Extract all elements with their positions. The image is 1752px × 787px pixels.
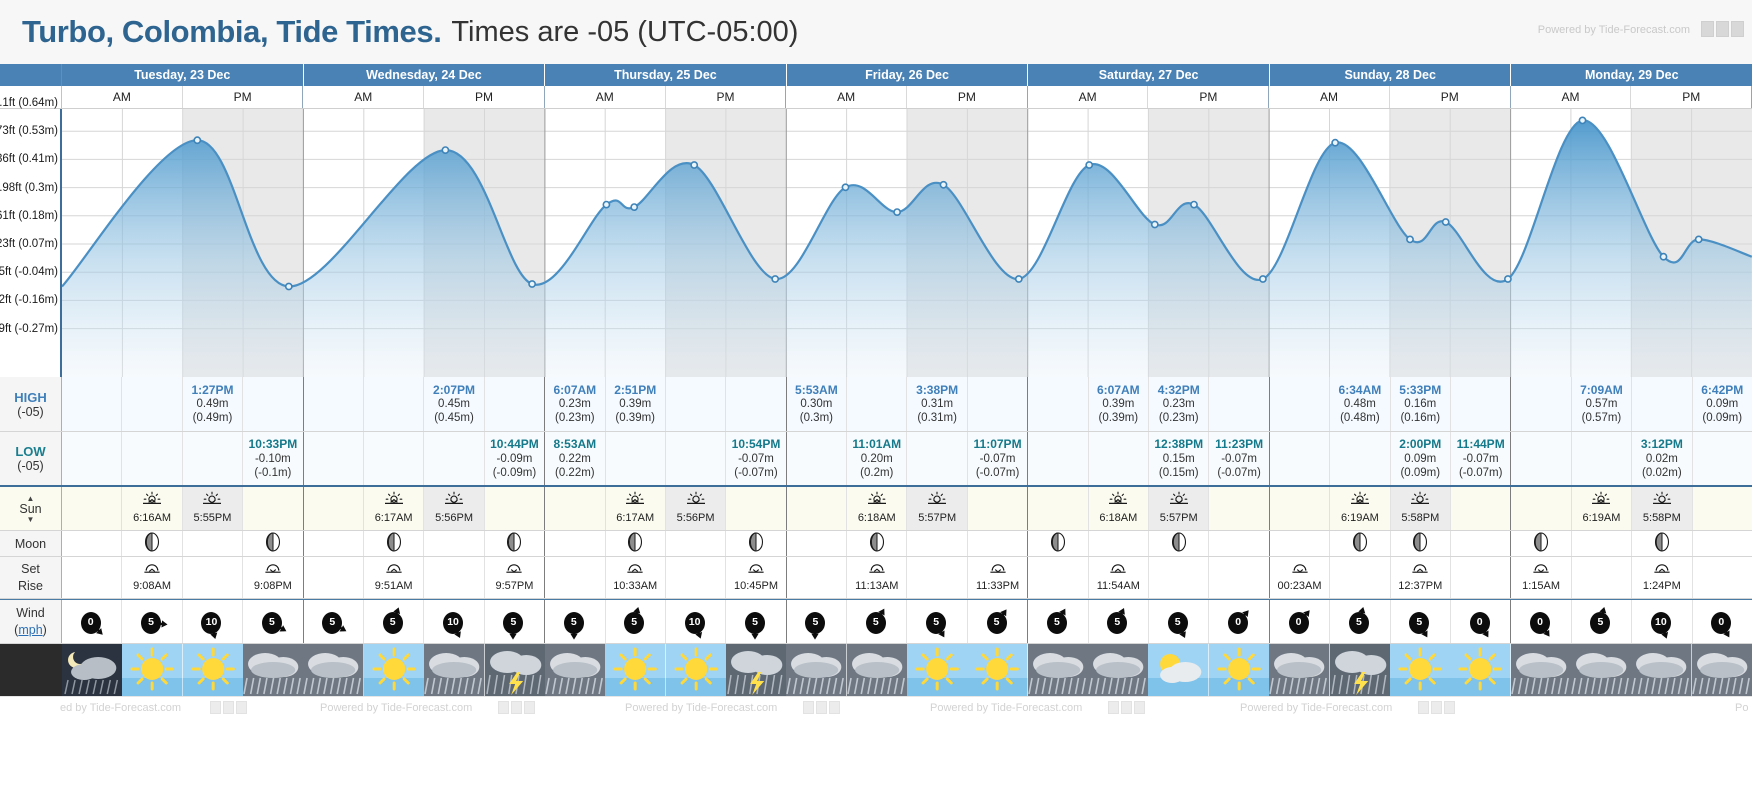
tide-height-alt: (0.39m) bbox=[1099, 411, 1139, 425]
sun-cell-4 bbox=[304, 487, 364, 530]
high-tide-cell-21: 6:34AM0.48m(0.48m) bbox=[1330, 377, 1390, 431]
ampm-header-row: AMPMAMPMAMPMAMPMAMPMAMPMAMPM bbox=[0, 86, 1752, 109]
sunset-icon bbox=[685, 491, 707, 507]
wind-badge: 5 bbox=[864, 609, 890, 635]
low-tide-row: LOW (-05) 10:33PM-0.10m(-0.1m)10:44PM-0.… bbox=[0, 432, 1752, 487]
tide-time: 11:23PM bbox=[1215, 437, 1263, 452]
moon-phase-icon bbox=[1410, 532, 1430, 556]
sun-time: 6:17AM bbox=[375, 512, 413, 525]
weather-icon-thunder bbox=[726, 644, 786, 696]
moon-phase-icon bbox=[1350, 532, 1370, 552]
weather-cell-23 bbox=[1450, 644, 1510, 696]
sunrise-icon bbox=[624, 491, 646, 507]
moon-cell-26 bbox=[1632, 531, 1692, 556]
weather-icon-rain bbox=[1511, 644, 1571, 696]
moon-event-cell-8 bbox=[545, 557, 605, 598]
moon-setrise-cells: 9:08AM9:08PM9:51AM9:57PM10:33AM10:45PM11… bbox=[62, 557, 1752, 598]
sun-cell-10: 5:56PM bbox=[666, 487, 726, 530]
high-tide-cell-14: 3:38PM0.31m(0.31m) bbox=[907, 377, 967, 431]
high-tide-cell-20 bbox=[1270, 377, 1330, 431]
sun-cell-7 bbox=[485, 487, 545, 530]
weather-cell-7 bbox=[485, 644, 545, 696]
tide-height-alt: (-0.07m) bbox=[1459, 466, 1502, 480]
y-axis-label-0: 2.1ft (0.64m) bbox=[0, 97, 58, 109]
wind-cell-0: 0 bbox=[62, 600, 122, 643]
sunset-icon bbox=[1168, 491, 1190, 511]
sun-cell-20 bbox=[1270, 487, 1330, 530]
tide-height-alt: (0.57m) bbox=[1582, 411, 1622, 425]
weather-cell-13 bbox=[847, 644, 907, 696]
weather-cell-5 bbox=[364, 644, 424, 696]
sunset-icon bbox=[1409, 491, 1431, 511]
page-header: Turbo, Colombia, Tide Times. Times are -… bbox=[0, 0, 1752, 64]
wind-badge: 0 bbox=[79, 609, 105, 635]
wind-badge: 5 bbox=[501, 609, 527, 635]
low-tide-cell-2 bbox=[183, 432, 243, 485]
wind-badge: 10 bbox=[1649, 609, 1675, 635]
weather-cell-27 bbox=[1692, 644, 1752, 696]
tide-time: 3:38PM bbox=[916, 383, 958, 398]
wind-badge: 5 bbox=[139, 609, 165, 635]
tide-height-alt: (0.3m) bbox=[800, 411, 833, 425]
sunset-icon bbox=[201, 491, 223, 507]
flag-icon[interactable] bbox=[1431, 701, 1442, 714]
sun-time: 5:58PM bbox=[1401, 512, 1439, 525]
sun-cell-16 bbox=[1028, 487, 1088, 530]
low-tide-label: LOW (-05) bbox=[0, 432, 62, 485]
sunrise-icon bbox=[1349, 491, 1371, 507]
flag-icon[interactable] bbox=[1418, 701, 1429, 714]
sun-cell-12 bbox=[787, 487, 847, 530]
moon-label-text: Moon bbox=[15, 537, 46, 551]
sun-cells: 6:16AM5:55PM6:17AM5:56PM6:17AM5:56PM6:18… bbox=[62, 487, 1752, 530]
wind-badge: 5 bbox=[1407, 609, 1433, 635]
high-tide-cell-19 bbox=[1209, 377, 1269, 431]
moon-cell-16 bbox=[1028, 531, 1088, 556]
sun-time: 6:17AM bbox=[616, 512, 654, 525]
moonrise-icon bbox=[1410, 562, 1430, 576]
page-subtitle: Times are -05 (UTC-05:00) bbox=[451, 16, 798, 49]
high-tide-cell-2: 1:27PM0.49m(0.49m) bbox=[183, 377, 243, 431]
moonrise-icon bbox=[1410, 562, 1430, 580]
wind-cell-27: 0 bbox=[1693, 600, 1752, 643]
sunset-icon bbox=[685, 491, 707, 511]
moonset-icon bbox=[988, 562, 1008, 580]
sun-cell-5: 6:17AM bbox=[364, 487, 424, 530]
flag-icon[interactable] bbox=[1108, 701, 1119, 714]
sunrise-icon bbox=[1590, 491, 1612, 507]
tide-time: 5:33PM bbox=[1399, 383, 1441, 398]
footer-flags-4[interactable] bbox=[1418, 701, 1455, 714]
sun-cell-24 bbox=[1511, 487, 1571, 530]
moon-cell-17 bbox=[1089, 531, 1149, 556]
wind-cell-4: 5 bbox=[304, 600, 364, 643]
weather-icon-sunny bbox=[666, 644, 726, 696]
flag-icon[interactable] bbox=[816, 701, 827, 714]
sun-time: 5:56PM bbox=[435, 512, 473, 525]
sun-label: ▲ Sun ▼ bbox=[0, 487, 62, 530]
wind-speed-badge: 10 bbox=[443, 612, 463, 634]
wind-speed-badge: 5 bbox=[805, 612, 825, 634]
moon-event-time: 11:13AM bbox=[855, 580, 898, 593]
sunrise-icon bbox=[383, 491, 405, 511]
ampm-header-am-6: AM bbox=[1511, 86, 1632, 108]
tide-curve-svg bbox=[62, 109, 1752, 377]
moonrise-icon bbox=[625, 562, 645, 576]
low-tide-cell-4 bbox=[304, 432, 364, 485]
tide-height: 0.23m bbox=[1163, 397, 1195, 411]
low-tide-cell-22: 2:00PM0.09m(0.09m) bbox=[1391, 432, 1451, 485]
high-tide-cells: 1:27PM0.49m(0.49m)2:07PM0.45m(0.45m)6:07… bbox=[62, 377, 1752, 431]
wind-badge: 10 bbox=[441, 609, 467, 635]
flag-icon[interactable] bbox=[1701, 21, 1714, 37]
moon-cell-24 bbox=[1511, 531, 1571, 556]
moonrise-icon bbox=[867, 562, 887, 580]
high-tide-cell-24 bbox=[1511, 377, 1571, 431]
sun-cell-15 bbox=[968, 487, 1028, 530]
ampm-header-am-3: AM bbox=[786, 86, 907, 108]
wind-speed-badge: 5 bbox=[987, 612, 1007, 634]
wind-badge: 5 bbox=[1045, 609, 1071, 635]
moonset-icon bbox=[746, 562, 766, 576]
weather-icon-rain bbox=[786, 644, 846, 696]
weather-cell-11 bbox=[726, 644, 786, 696]
weather-cell-9 bbox=[605, 644, 665, 696]
tide-time: 3:12PM bbox=[1641, 437, 1683, 452]
footer-flags-0[interactable] bbox=[210, 701, 247, 714]
tide-height-alt: (0.48m) bbox=[1340, 411, 1380, 425]
y-axis-label-1: 1.73ft (0.53m) bbox=[0, 125, 58, 137]
sun-time: 5:57PM bbox=[918, 512, 956, 525]
high-tide-cell-22: 5:33PM0.16m(0.16m) bbox=[1391, 377, 1451, 431]
weather-icon-rain bbox=[1028, 644, 1088, 696]
tide-time: 6:07AM bbox=[1097, 383, 1140, 398]
sun-time: 6:16AM bbox=[133, 512, 171, 525]
high-tide-cell-7 bbox=[485, 377, 545, 431]
moonrise-icon bbox=[1652, 562, 1672, 580]
tide-height: 0.02m bbox=[1646, 452, 1678, 466]
tide-height-alt: (0.23m) bbox=[1159, 411, 1199, 425]
moon-event-cell-2 bbox=[183, 557, 243, 598]
high-tide-cell-26 bbox=[1632, 377, 1692, 431]
moon-event-time: 12:37PM bbox=[1398, 580, 1442, 593]
tide-height: 0.48m bbox=[1344, 397, 1376, 411]
low-tide-cell-5 bbox=[364, 432, 424, 485]
ampm-header-am-4: AM bbox=[1028, 86, 1149, 108]
flag-icon[interactable] bbox=[1716, 21, 1729, 37]
moon-event-cell-11: 10:45PM bbox=[726, 557, 786, 598]
wind-speed-badge: 10 bbox=[685, 612, 705, 634]
moon-event-time: 10:45PM bbox=[734, 580, 778, 593]
low-tide-cell-9 bbox=[606, 432, 666, 485]
moon-cell-11 bbox=[726, 531, 786, 556]
weather-icon-partly-cloudy bbox=[1148, 644, 1208, 696]
moon-event-cell-16 bbox=[1028, 557, 1088, 598]
day-header-3: Friday, 26 Dec bbox=[787, 64, 1029, 86]
moon-event-cell-22: 12:37PM bbox=[1391, 557, 1451, 598]
sun-cell-11 bbox=[726, 487, 786, 530]
flag-icon[interactable] bbox=[803, 701, 814, 714]
tide-height-alt: (-0.1m) bbox=[254, 466, 291, 480]
tide-height: 0.16m bbox=[1404, 397, 1436, 411]
flag-icon[interactable] bbox=[1121, 701, 1132, 714]
moonset-icon bbox=[1531, 562, 1551, 580]
sun-time: 5:56PM bbox=[677, 512, 715, 525]
low-tide-cell-14 bbox=[907, 432, 967, 485]
sun-cell-18: 5:57PM bbox=[1149, 487, 1209, 530]
moon-phase-icon bbox=[142, 532, 162, 556]
flag-icon[interactable] bbox=[236, 701, 247, 714]
footer-powered-by-0: ed by Tide-Forecast.com bbox=[60, 702, 181, 714]
wind-badge: 5 bbox=[803, 609, 829, 635]
wind-speed-badge: 0 bbox=[1470, 612, 1490, 634]
moon-cell-5 bbox=[364, 531, 424, 556]
moon-phase-icon bbox=[625, 532, 645, 552]
sun-label-text: Sun bbox=[19, 502, 41, 516]
wind-cell-18: 5 bbox=[1149, 600, 1209, 643]
footer-flags-1[interactable] bbox=[498, 701, 535, 714]
wind-cell-13: 5 bbox=[847, 600, 907, 643]
sun-cell-2: 5:55PM bbox=[183, 487, 243, 530]
moon-label: Moon bbox=[0, 531, 62, 556]
flag-icon[interactable] bbox=[210, 701, 221, 714]
day-header-spacer bbox=[0, 64, 62, 86]
low-tide-cell-23: 11:44PM-0.07m(-0.07m) bbox=[1451, 432, 1511, 485]
flag-icon[interactable] bbox=[511, 701, 522, 714]
wind-badge: 0 bbox=[1709, 609, 1735, 635]
weather-cell-18 bbox=[1148, 644, 1208, 696]
tide-height: -0.07m bbox=[738, 452, 774, 466]
moon-event-time: 10:33AM bbox=[613, 580, 657, 593]
wind-speed-badge: 5 bbox=[503, 612, 523, 634]
footer-flags-2[interactable] bbox=[803, 701, 840, 714]
moon-cell-4 bbox=[304, 531, 364, 556]
tide-time: 10:33PM bbox=[249, 437, 298, 452]
wind-badge: 0 bbox=[1528, 609, 1554, 635]
weather-cell-2 bbox=[183, 644, 243, 696]
footer-powered-by-5: Po bbox=[1735, 702, 1748, 714]
wind-speed-badge: 5 bbox=[141, 612, 161, 634]
day-header-0: Tuesday, 23 Dec bbox=[62, 64, 304, 86]
flag-icon[interactable] bbox=[1731, 21, 1744, 37]
wind-speed-badge: 5 bbox=[1168, 612, 1188, 634]
low-tide-cell-8: 8:53AM0.22m(0.22m) bbox=[545, 432, 605, 485]
low-tide-cell-15: 11:07PM-0.07m(-0.07m) bbox=[968, 432, 1028, 485]
wind-badge: 5 bbox=[924, 609, 950, 635]
tide-height-alt: (0.15m) bbox=[1159, 466, 1199, 480]
moon-cell-8 bbox=[545, 531, 605, 556]
wind-speed-badge: 5 bbox=[564, 612, 584, 634]
sun-time: 6:18AM bbox=[858, 512, 896, 525]
tide-height: 0.45m bbox=[438, 397, 470, 411]
weather-row-spacer bbox=[0, 644, 62, 696]
wind-badge: 5 bbox=[1166, 609, 1192, 635]
tide-height-alt: (0.09m) bbox=[1400, 466, 1440, 480]
sunrise-icon bbox=[1107, 491, 1129, 511]
sun-cell-14: 5:57PM bbox=[907, 487, 967, 530]
wind-badge: 0 bbox=[1468, 609, 1494, 635]
wind-cell-10: 10 bbox=[666, 600, 726, 643]
tide-plot-area bbox=[62, 109, 1752, 377]
moon-event-cell-20: 00:23AM bbox=[1270, 557, 1330, 598]
wind-speed-badge: 5 bbox=[866, 612, 886, 634]
footer-flags-3[interactable] bbox=[1108, 701, 1145, 714]
sunset-icon bbox=[1168, 491, 1190, 507]
tide-height: 0.15m bbox=[1163, 452, 1195, 466]
high-tide-cell-9: 2:51PM0.39m(0.39m) bbox=[606, 377, 666, 431]
wind-badge: 5 bbox=[562, 609, 588, 635]
moon-event-time: 1:24PM bbox=[1643, 580, 1681, 593]
wind-cell-17: 5 bbox=[1089, 600, 1149, 643]
moonset-icon bbox=[263, 562, 283, 576]
moon-phase-cells bbox=[62, 531, 1752, 556]
tide-time: 11:44PM bbox=[1457, 437, 1505, 452]
high-tide-cell-11 bbox=[726, 377, 786, 431]
high-tide-cell-16 bbox=[1028, 377, 1088, 431]
flag-icon[interactable] bbox=[223, 701, 234, 714]
wind-cell-2: 10 bbox=[183, 600, 243, 643]
sun-cell-3 bbox=[243, 487, 303, 530]
tide-height-alt: (0.09m) bbox=[1702, 411, 1742, 425]
wind-speed-badge: 0 bbox=[1228, 612, 1248, 634]
tide-height-alt: (-0.07m) bbox=[1217, 466, 1260, 480]
weather-icon-thunder bbox=[1330, 644, 1390, 696]
moon-cell-23 bbox=[1451, 531, 1511, 556]
moon-phase-icon bbox=[867, 532, 887, 556]
moon-cell-3 bbox=[243, 531, 303, 556]
high-tide-cell-12: 5:53AM0.30m(0.3m) bbox=[787, 377, 847, 431]
moon-event-cell-23 bbox=[1451, 557, 1511, 598]
ampm-header-pm-4: PM bbox=[1148, 86, 1269, 108]
wind-cell-7: 5 bbox=[485, 600, 545, 643]
moonset-icon bbox=[263, 562, 283, 580]
sunrise-icon bbox=[383, 491, 405, 507]
tide-height-alt: (-0.07m) bbox=[734, 466, 777, 480]
y-axis-label-7: -0.52ft (-0.16m) bbox=[0, 294, 58, 306]
tide-time: 12:38PM bbox=[1154, 437, 1203, 452]
y-axis-label-6: -0.15ft (-0.04m) bbox=[0, 266, 58, 278]
high-tide-cell-5 bbox=[364, 377, 424, 431]
tide-height: -0.07m bbox=[980, 452, 1016, 466]
y-axis-label-3: 0.98ft (0.3m) bbox=[0, 182, 58, 194]
weather-cell-16 bbox=[1028, 644, 1088, 696]
weather-cell-15 bbox=[967, 644, 1027, 696]
sunset-icon bbox=[926, 491, 948, 507]
sun-time: 6:19AM bbox=[1341, 512, 1379, 525]
moon-event-cell-15: 11:33PM bbox=[968, 557, 1028, 598]
wind-badge: 5 bbox=[622, 609, 648, 635]
tide-time: 4:32PM bbox=[1158, 383, 1200, 398]
high-tide-tz: (-05) bbox=[17, 405, 43, 419]
wind-speed-badge: 5 bbox=[745, 612, 765, 634]
flag-icon[interactable] bbox=[1134, 701, 1145, 714]
moon-event-time: 11:33PM bbox=[976, 580, 1019, 593]
language-flags[interactable] bbox=[1701, 21, 1744, 37]
weather-cell-20 bbox=[1269, 644, 1329, 696]
tide-time: 6:34AM bbox=[1339, 383, 1382, 398]
moon-phase-icon bbox=[1652, 532, 1672, 552]
sunrise-icon bbox=[1107, 491, 1129, 507]
wind-cell-16: 5 bbox=[1028, 600, 1088, 643]
moon-event-time: 1:15AM bbox=[1522, 580, 1560, 593]
weather-icon-rain bbox=[243, 644, 303, 696]
tide-time: 2:51PM bbox=[614, 383, 656, 398]
tide-time: 8:53AM bbox=[553, 437, 596, 452]
wind-badge: 5 bbox=[743, 609, 769, 635]
low-tide-cell-10 bbox=[666, 432, 726, 485]
wind-cell-21: 5 bbox=[1330, 600, 1390, 643]
wind-speed-badge: 5 bbox=[624, 612, 644, 634]
moon-event-time: 9:57PM bbox=[495, 580, 533, 593]
y-axis-label-8: -0.9ft (-0.27m) bbox=[0, 323, 58, 335]
day-header-2: Thursday, 25 Dec bbox=[545, 64, 787, 86]
low-tide-cell-13: 11:01AM0.20m(0.2m) bbox=[847, 432, 907, 485]
moon-cell-19 bbox=[1209, 531, 1269, 556]
wind-speed-badge: 0 bbox=[1289, 612, 1309, 634]
footer-powered-by-4: Powered by Tide-Forecast.com bbox=[1240, 702, 1392, 714]
sun-cell-0 bbox=[62, 487, 122, 530]
moon-phase-icon bbox=[746, 532, 766, 552]
tide-height: 0.39m bbox=[619, 397, 651, 411]
flag-icon[interactable] bbox=[829, 701, 840, 714]
wind-cell-9: 5 bbox=[606, 600, 666, 643]
moon-phase-icon bbox=[142, 532, 162, 552]
weather-cell-10 bbox=[666, 644, 726, 696]
wind-speed-badge: 5 bbox=[1409, 612, 1429, 634]
high-tide-label: HIGH (-05) bbox=[0, 377, 62, 431]
wind-cell-6: 10 bbox=[424, 600, 484, 643]
wind-badge: 5 bbox=[260, 609, 286, 635]
flag-icon[interactable] bbox=[1444, 701, 1455, 714]
wind-speed-badge: 0 bbox=[1711, 612, 1731, 634]
weather-icon-rain bbox=[1088, 644, 1148, 696]
low-tide-cell-21 bbox=[1330, 432, 1390, 485]
wind-speed-badge: 5 bbox=[262, 612, 282, 634]
tide-height: 0.22m bbox=[559, 452, 591, 466]
weather-cell-14 bbox=[907, 644, 967, 696]
ampm-header-am-0: AM bbox=[62, 86, 183, 108]
weather-icon-night-rain bbox=[62, 644, 122, 696]
moon-rise-label-text: Rise bbox=[18, 578, 43, 595]
flag-icon[interactable] bbox=[498, 701, 509, 714]
tide-height: 0.23m bbox=[559, 397, 591, 411]
moonrise-icon bbox=[384, 562, 404, 580]
day-header-1: Wednesday, 24 Dec bbox=[304, 64, 546, 86]
wind-badge: 10 bbox=[683, 609, 709, 635]
moon-cell-13 bbox=[847, 531, 907, 556]
wind-cell-15: 5 bbox=[968, 600, 1028, 643]
moon-event-time: 00:23AM bbox=[1277, 580, 1321, 593]
weather-icon-rain bbox=[1631, 644, 1691, 696]
high-tide-cell-3 bbox=[243, 377, 303, 431]
weather-icon-sunny bbox=[1450, 644, 1510, 696]
y-axis-label-5: 0.23ft (0.07m) bbox=[0, 238, 58, 250]
moon-cell-18 bbox=[1149, 531, 1209, 556]
tide-height-alt: (0.2m) bbox=[860, 466, 893, 480]
moon-phase-icon bbox=[1652, 532, 1672, 556]
moon-event-cell-14 bbox=[907, 557, 967, 598]
weather-cell-0 bbox=[62, 644, 122, 696]
wind-unit-link[interactable]: mph bbox=[18, 623, 42, 637]
wind-speed-badge: 5 bbox=[1590, 612, 1610, 634]
sun-up-arrow-icon: ▲ bbox=[27, 495, 35, 502]
sun-time: 5:55PM bbox=[194, 512, 232, 525]
high-tide-cell-15 bbox=[968, 377, 1028, 431]
flag-icon[interactable] bbox=[524, 701, 535, 714]
low-tide-cell-7: 10:44PM-0.09m(-0.09m) bbox=[485, 432, 545, 485]
weather-icon-rain bbox=[424, 644, 484, 696]
wind-badge: 5 bbox=[381, 609, 407, 635]
